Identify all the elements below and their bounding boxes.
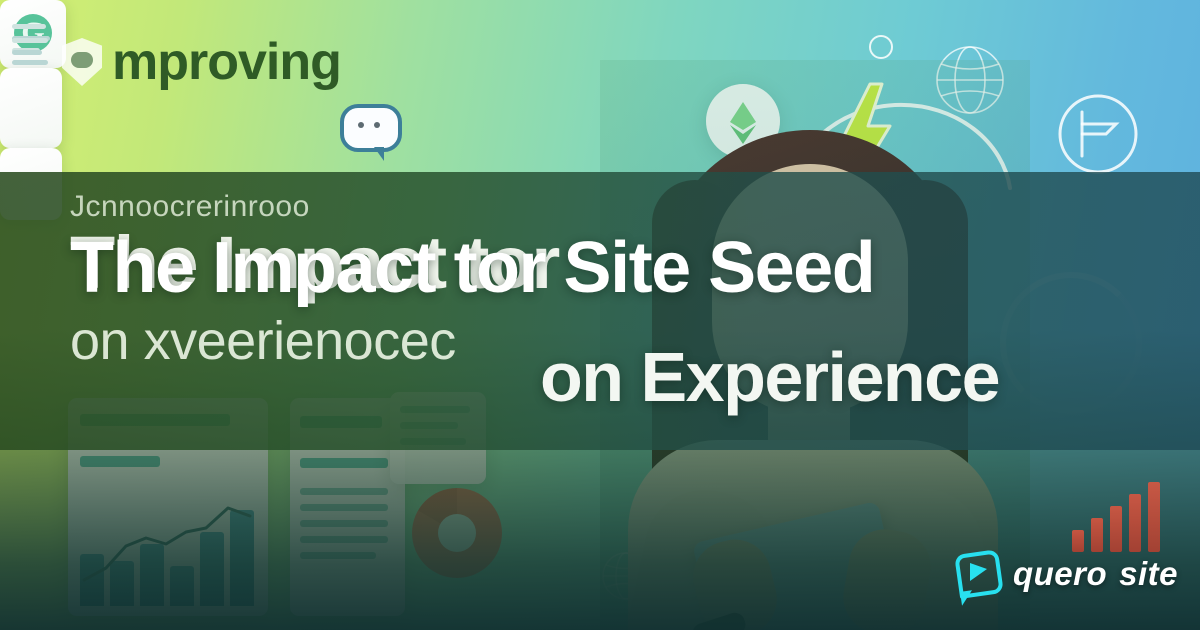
card-document	[0, 68, 62, 148]
shield-badge-icon	[62, 38, 102, 86]
watermark-bar-chart	[1072, 482, 1160, 552]
location-pin-chat-icon	[957, 552, 1001, 596]
brand-lockup: mproving	[62, 36, 341, 88]
hero-banner: G	[0, 0, 1200, 630]
watermark-word-2: site	[1119, 555, 1178, 593]
card-g: G	[0, 0, 66, 68]
watermark-word-1: quero	[1013, 555, 1107, 593]
flag-circle-icon	[1050, 86, 1146, 182]
brand-name: mproving	[112, 36, 341, 88]
watermark-logo[interactable]: quero site	[957, 552, 1178, 596]
chat-bubble-icon	[340, 104, 402, 152]
g-letter-icon: G	[14, 14, 52, 52]
title-overlay-band	[0, 172, 1200, 450]
small-ring-icon	[869, 35, 893, 59]
